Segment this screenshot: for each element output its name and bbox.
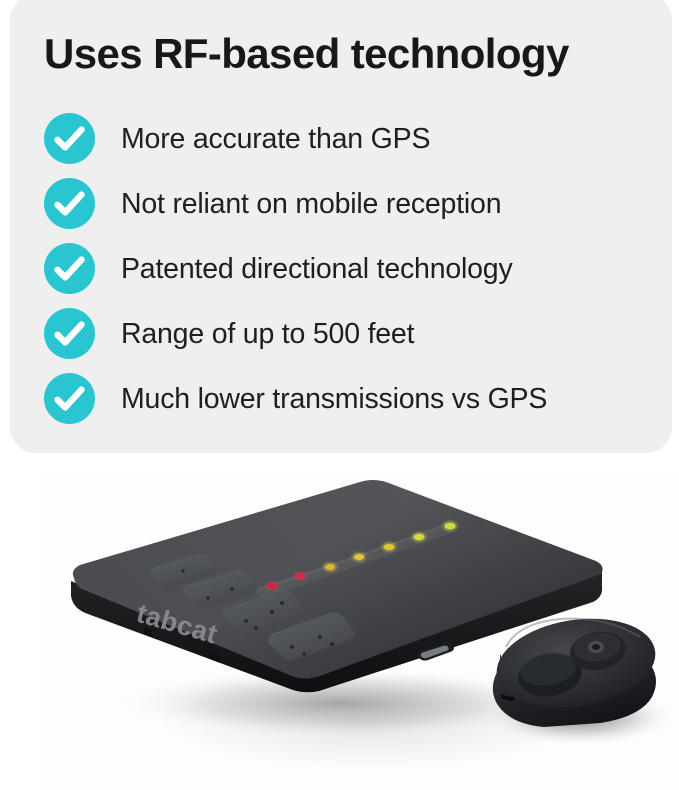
led-4-core [354,554,364,560]
list-item: Much lower transmissions vs GPS [44,366,664,431]
page-title: Uses RF-based technology [44,30,660,78]
check-circle-icon [44,178,95,229]
feature-card: Uses RF-based technology More accurate t… [10,0,672,453]
list-item-label: Range of up to 500 feet [121,317,664,351]
led-5-core [384,544,394,550]
list-item-label: Much lower transmissions vs GPS [121,382,664,416]
list-item-label: Patented directional technology [121,252,664,286]
led-7-core [444,523,455,530]
led-6-core [414,534,425,540]
list-item: Not reliant on mobile reception [44,171,664,236]
check-circle-icon [44,373,95,424]
led-1-core [268,583,276,588]
list-item: Range of up to 500 feet [44,301,664,366]
tag-stud-core [592,644,600,650]
check-circle-icon [44,243,95,294]
check-circle-icon [44,113,95,164]
product-photo: tabcat [40,471,679,790]
feature-list: More accurate than GPS Not reliant on mo… [44,106,664,431]
list-item: Patented directional technology [44,236,664,301]
led-3-core [325,564,335,570]
led-2-core [296,573,305,578]
check-circle-icon [44,308,95,359]
product-illustration: tabcat [40,471,679,790]
list-item: More accurate than GPS [44,106,664,171]
list-item-label: Not reliant on mobile reception [121,187,664,221]
list-item-label: More accurate than GPS [121,122,664,156]
